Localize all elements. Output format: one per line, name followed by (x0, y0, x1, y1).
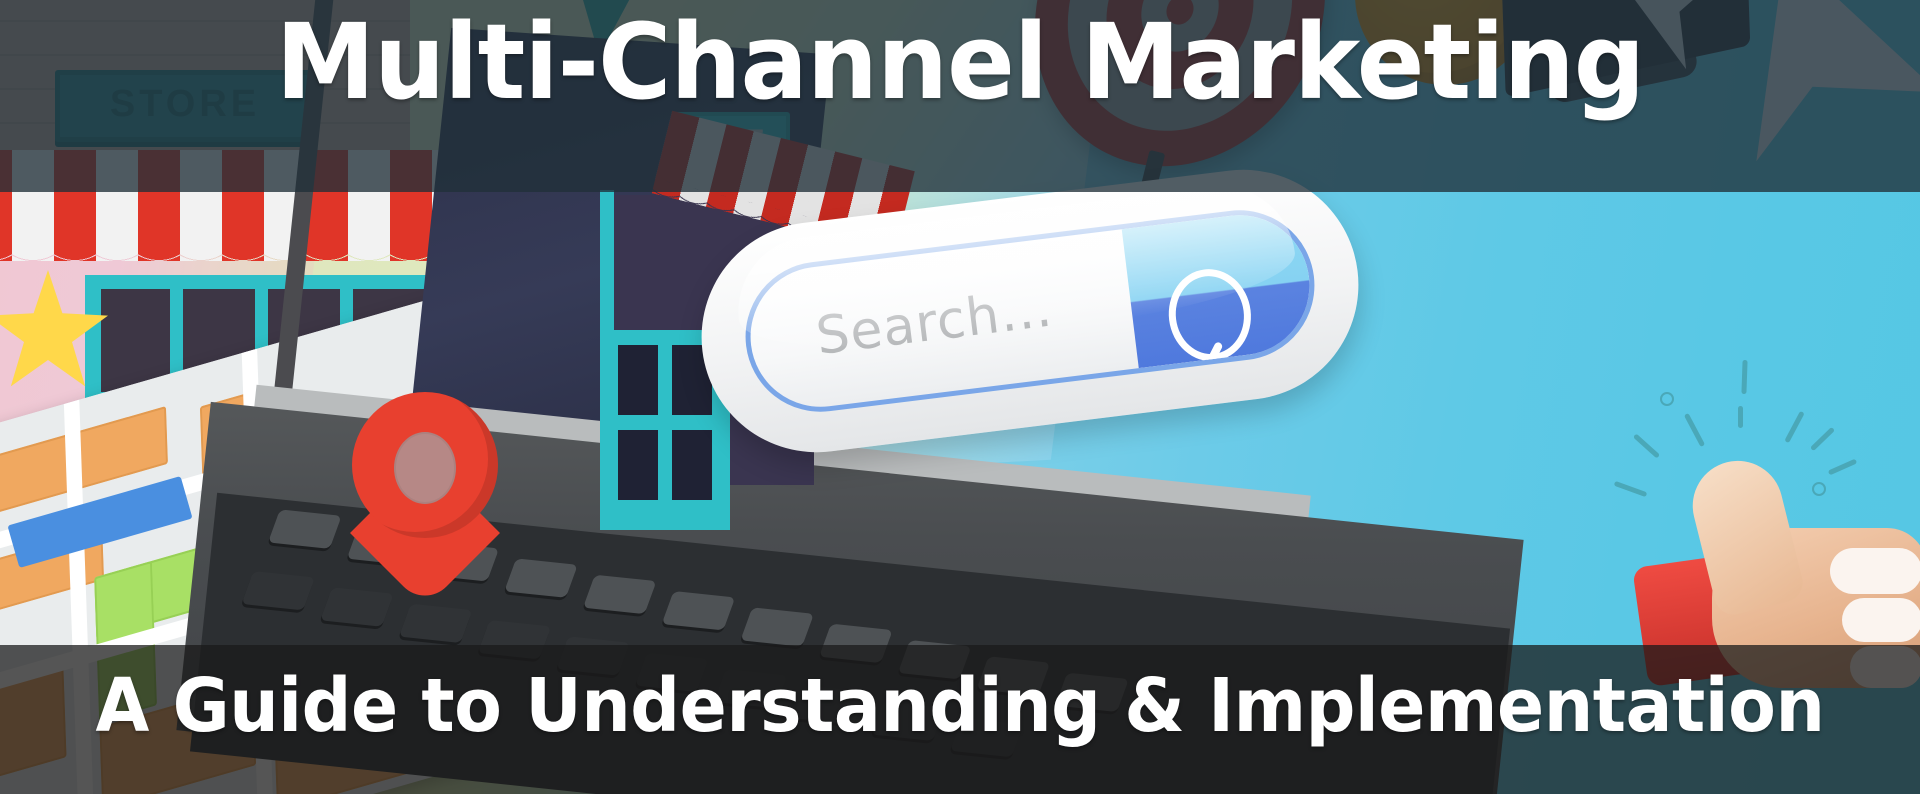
sparkle-circle-icon (1812, 482, 1826, 496)
map-pin-hole (394, 432, 456, 504)
title-overlay-band: Multi-Channel Marketing (0, 0, 1920, 192)
sparkle-circle-icon (1660, 392, 1674, 406)
sparkle-icon (1738, 406, 1743, 428)
door-pane (672, 430, 712, 500)
map-pin (352, 392, 498, 538)
thumbs-up-finger (1842, 598, 1920, 642)
banner-image: STORE (0, 0, 1920, 794)
thumbs-up-finger (1830, 548, 1920, 594)
page-subtitle: A Guide to Understanding & Implementatio… (58, 669, 1863, 743)
subtitle-overlay-band: A Guide to Understanding & Implementatio… (0, 645, 1920, 794)
door-pane (618, 430, 658, 500)
page-title: Multi-Channel Marketing (38, 10, 1881, 114)
door-pane (618, 345, 658, 415)
